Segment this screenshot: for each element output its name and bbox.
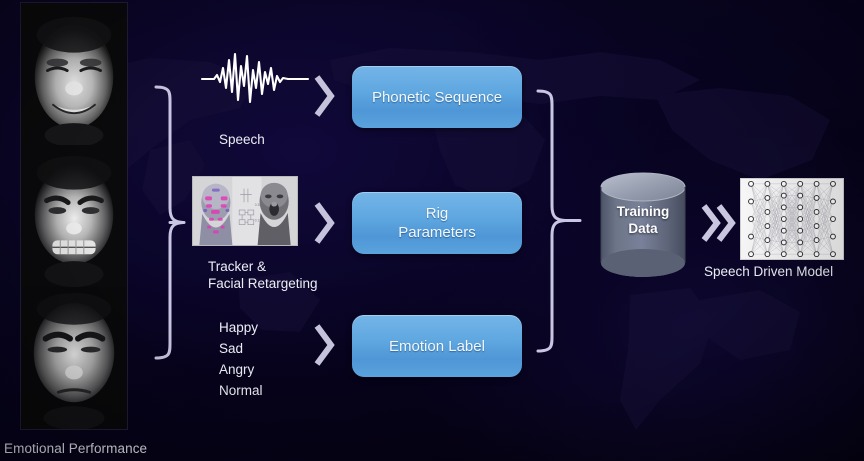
emotional-performance-caption: Emotional Performance [4, 441, 147, 456]
face-frame-angry [21, 145, 127, 287]
phonetic-sequence-label: Phonetic Sequence [372, 88, 502, 107]
phonetic-sequence-box[interactable]: Phonetic Sequence [352, 66, 522, 128]
speech-label: Speech [219, 131, 265, 148]
figure-canvas: Emotional Performance Speech [0, 0, 864, 461]
rig-parameters-label: Rig Parameters [398, 204, 476, 242]
tracker-label: Tracker & Facial Retargeting [208, 258, 318, 292]
face-frame-neutral [21, 287, 127, 429]
emotional-performance-frames [20, 2, 128, 430]
right-curly-brace [534, 88, 582, 354]
face-frame-happy [21, 3, 127, 145]
emotion-list-icon: Happy Sad Angry Normal [219, 317, 263, 401]
double-chevron-right-icon [700, 201, 738, 245]
chevron-right-icon-3 [312, 323, 336, 367]
face-tracking-icon: 0.35 0.12 [192, 176, 298, 246]
rig-parameters-box[interactable]: Rig Parameters [352, 192, 522, 254]
emotion-label-box[interactable]: Emotion Label [352, 315, 522, 377]
waveform-icon [200, 48, 310, 110]
neural-network-icon [740, 178, 844, 260]
emotion-label-text: Emotion Label [389, 337, 485, 356]
chevron-right-icon-1 [312, 74, 336, 118]
svg-text:0.35: 0.35 [255, 203, 262, 207]
chevron-right-icon-2 [312, 201, 336, 245]
speech-driven-model-caption: Speech Driven Model [704, 264, 833, 279]
svg-text:0.12: 0.12 [255, 219, 262, 223]
training-data-label: Training Data [598, 203, 688, 237]
left-curly-brace [140, 84, 186, 361]
